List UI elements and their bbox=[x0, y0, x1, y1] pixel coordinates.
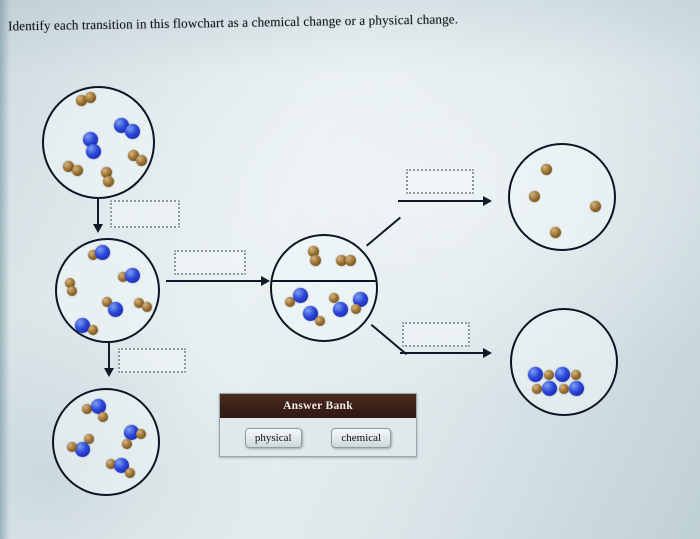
dropzone-t5[interactable] bbox=[402, 322, 470, 347]
atom-brown bbox=[85, 92, 96, 103]
atom-brown bbox=[122, 439, 132, 449]
arrow-line-t2 bbox=[108, 343, 110, 371]
arrow-head-t1 bbox=[93, 224, 103, 233]
atom-brown bbox=[310, 255, 321, 266]
answer-bank-options: physical chemical bbox=[220, 418, 416, 458]
arrow-line-t5 bbox=[400, 352, 486, 354]
page-title: Identify each transition in this flowcha… bbox=[8, 10, 568, 35]
atom-brown bbox=[315, 316, 325, 326]
atom-brown bbox=[541, 164, 552, 175]
arrow-head-t5 bbox=[483, 348, 492, 358]
screen-edge-shadow bbox=[0, 0, 10, 539]
phase-boundary-line bbox=[272, 280, 376, 282]
node-mid-left-partial-reaction bbox=[55, 238, 160, 343]
arrow-line-t3 bbox=[166, 280, 264, 282]
atom-blue bbox=[333, 302, 348, 317]
dropzone-t3[interactable] bbox=[174, 250, 246, 275]
flowchart-page: Identify each transition in this flowcha… bbox=[0, 0, 700, 539]
atom-brown bbox=[72, 165, 83, 176]
atom-brown bbox=[67, 286, 77, 296]
atom-blue bbox=[555, 367, 570, 382]
arrow-head-t3 bbox=[261, 276, 270, 286]
node-top-right-monatomic-gas bbox=[508, 143, 616, 251]
atom-brown bbox=[88, 325, 98, 335]
atom-blue bbox=[125, 268, 140, 283]
atom-blue bbox=[108, 302, 123, 317]
node-top-left-mixture bbox=[42, 86, 155, 199]
atom-brown bbox=[142, 302, 152, 312]
atom-brown bbox=[351, 304, 361, 314]
atom-brown bbox=[67, 442, 77, 452]
atom-brown bbox=[571, 370, 581, 380]
atom-brown bbox=[532, 384, 542, 394]
answer-bank-panel: Answer Bank physical chemical bbox=[219, 393, 417, 457]
node-bottom-right-crystal-solid bbox=[510, 308, 618, 416]
atom-blue bbox=[569, 381, 584, 396]
atom-blue bbox=[293, 288, 308, 303]
arrow-diagonal-t4 bbox=[366, 217, 401, 247]
answer-chip-chemical[interactable]: chemical bbox=[331, 428, 391, 448]
atom-blue bbox=[528, 367, 543, 382]
atom-brown bbox=[125, 468, 135, 478]
arrow-head-t2 bbox=[104, 368, 114, 377]
atom-blue bbox=[125, 124, 140, 139]
atom-blue bbox=[86, 144, 101, 159]
node-center-two-phase-container bbox=[270, 234, 378, 342]
arrow-line-t1 bbox=[97, 199, 99, 227]
atom-brown bbox=[529, 191, 540, 202]
atom-brown bbox=[136, 429, 146, 439]
atom-brown bbox=[590, 201, 601, 212]
node-bottom-left-product bbox=[52, 388, 160, 496]
arrow-line-t4 bbox=[398, 200, 486, 202]
atom-blue bbox=[95, 245, 110, 260]
dropzone-t2[interactable] bbox=[118, 348, 186, 373]
dropzone-t4[interactable] bbox=[406, 169, 474, 194]
answer-chip-physical[interactable]: physical bbox=[245, 428, 302, 448]
answer-bank-title: Answer Bank bbox=[220, 394, 416, 418]
atom-blue bbox=[75, 442, 90, 457]
atom-brown bbox=[544, 370, 554, 380]
atom-brown bbox=[98, 412, 108, 422]
atom-blue bbox=[542, 381, 557, 396]
atom-brown bbox=[559, 384, 569, 394]
atom-brown bbox=[550, 227, 561, 238]
dropzone-t1[interactable] bbox=[110, 200, 180, 228]
atom-brown bbox=[345, 255, 356, 266]
atom-brown bbox=[136, 155, 147, 166]
atom-brown bbox=[103, 176, 114, 187]
arrow-head-t4 bbox=[483, 196, 492, 206]
